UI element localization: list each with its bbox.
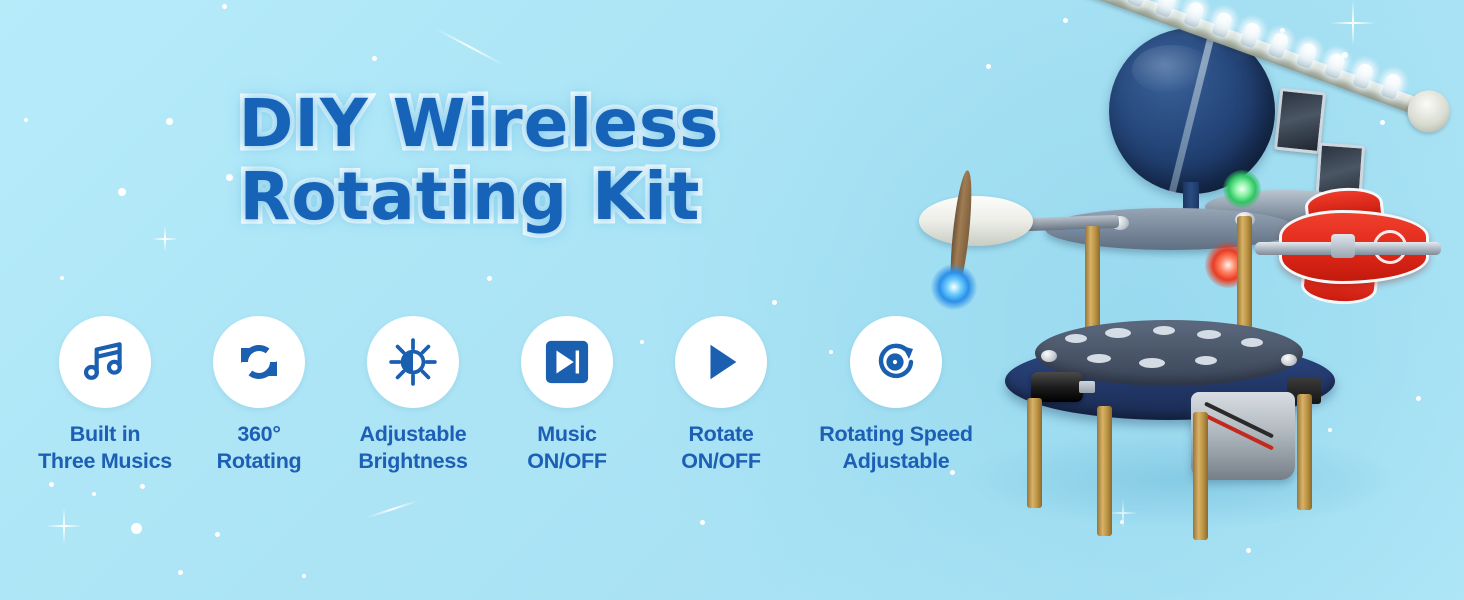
green-led-glow — [1223, 170, 1261, 208]
blue-led-glow — [931, 264, 977, 310]
star-dot — [49, 482, 54, 487]
moon-disc — [919, 196, 1033, 246]
led-lamp — [1352, 62, 1374, 90]
title-line-2: Rotating Kit — [0, 165, 940, 228]
rocket — [1261, 190, 1451, 306]
star-dot — [372, 56, 377, 61]
feature-label: Built in Three Musics — [38, 421, 172, 475]
star-dot — [140, 484, 145, 489]
feature-icon-bubble — [521, 316, 613, 408]
rocket-mount-nut — [1331, 234, 1355, 258]
title-line-1: DIY Wireless — [18, 92, 940, 155]
feature-item-rotate-on-off: Rotate ON/OFF — [644, 316, 798, 475]
brightness-sun-icon — [388, 337, 438, 387]
refresh-rotate-icon — [235, 338, 283, 386]
feature-label: Adjustable Brightness — [358, 421, 467, 475]
feature-item-360-rotating: 360° Rotating — [182, 316, 336, 475]
brass-post — [1097, 406, 1112, 536]
hardware-screw — [1041, 350, 1057, 362]
feature-item-built-in-three-musics: Built in Three Musics — [28, 316, 182, 475]
star-dot — [131, 523, 142, 534]
star-dot — [92, 492, 96, 496]
feature-item-adjustable-brightness: Adjustable Brightness — [336, 316, 490, 475]
led-lamp — [1183, 0, 1205, 28]
product-image — [905, 0, 1464, 600]
led-lamp — [1211, 11, 1233, 39]
sparkle-star — [152, 226, 178, 252]
hardware-screw — [1281, 354, 1297, 366]
cloud-marking — [1195, 356, 1217, 365]
cloud-marking — [1241, 338, 1263, 347]
cloud-marking — [1139, 358, 1165, 368]
play-triangle-icon — [698, 339, 744, 385]
led-lamp — [1324, 52, 1346, 80]
star-dot — [215, 532, 220, 537]
feature-icon-bubble — [59, 316, 151, 408]
feature-item-music-on-off: Music ON/OFF — [490, 316, 644, 475]
shooting-star — [367, 500, 419, 519]
feature-icon-bubble — [367, 316, 459, 408]
feature-icon-bubble — [213, 316, 305, 408]
shooting-star — [436, 28, 504, 65]
star-dot — [487, 276, 492, 281]
led-lamp — [1380, 72, 1402, 100]
star-dot — [178, 570, 183, 575]
cloud-marking — [1153, 326, 1175, 335]
cloud-marking — [1197, 330, 1221, 339]
page-title: DIY Wireless Rotating Kit — [0, 92, 940, 229]
feature-icon-bubble — [675, 316, 767, 408]
star-dot — [60, 276, 64, 280]
feature-label: Music ON/OFF — [527, 421, 606, 475]
brass-post — [1027, 398, 1042, 508]
star-dot — [222, 4, 227, 9]
feature-label: 360° Rotating — [217, 421, 302, 475]
feature-list: Built in Three Musics 360° Rotating — [28, 316, 958, 475]
star-dot — [772, 300, 777, 305]
sparkle-star — [46, 508, 82, 544]
brass-post — [1297, 394, 1312, 510]
music-note-icon — [80, 337, 130, 387]
led-lamp — [1239, 21, 1261, 49]
star-dot — [700, 520, 705, 525]
led-lamp — [1296, 41, 1318, 69]
feature-label: Rotate ON/OFF — [681, 421, 760, 475]
cloud-marking — [1105, 328, 1131, 338]
led-lamp — [1268, 31, 1290, 59]
brass-post — [1193, 412, 1208, 540]
promo-banner: DIY Wireless Rotating Kit Built in Three… — [0, 0, 1464, 600]
ring-cap-right — [1402, 84, 1456, 138]
base-platform — [1005, 320, 1335, 412]
skip-next-square-icon — [544, 339, 590, 385]
star-dot — [302, 574, 306, 578]
cloud-marking — [1087, 354, 1111, 363]
cloud-marking — [1065, 334, 1087, 343]
